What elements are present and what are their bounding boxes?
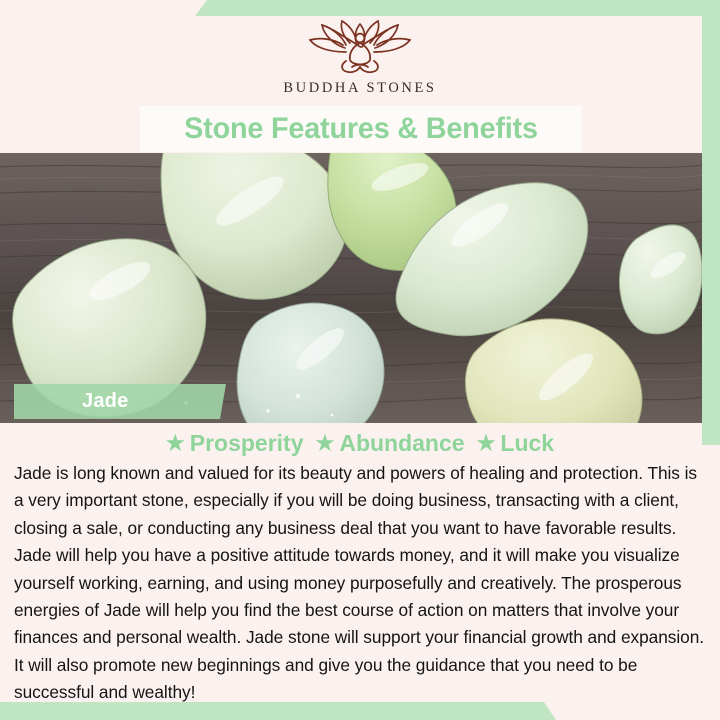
benefit-label: Prosperity (190, 430, 304, 457)
benefit-label: Abundance (339, 430, 464, 457)
benefits-row: ★ Prosperity ★ Abundance ★ Luck (0, 430, 720, 457)
stone-photo (0, 153, 702, 423)
page-title: Stone Features & Benefits (149, 106, 573, 152)
star-icon: ★ (166, 433, 185, 454)
benefit-abundance: ★ Abundance (316, 430, 465, 457)
stone-features-infographic: BUDDHA STONES Stone Features & Benefits (0, 0, 720, 720)
benefit-prosperity: ★ Prosperity (166, 430, 304, 457)
stone-name-label: Jade (14, 384, 214, 419)
benefit-label: Luck (500, 430, 554, 457)
star-icon: ★ (477, 433, 496, 454)
description-paragraph: Jade is long known and valued for its be… (14, 460, 708, 707)
stone-photo-illustration (0, 153, 702, 423)
star-icon: ★ (316, 433, 335, 454)
brand-name: BUDDHA STONES (283, 80, 436, 97)
brand-logo: BUDDHA STONES (0, 18, 720, 106)
benefit-luck: ★ Luck (477, 430, 555, 457)
lotus-meditation-figure-icon (300, 18, 420, 76)
decorative-band-top (195, 0, 720, 16)
